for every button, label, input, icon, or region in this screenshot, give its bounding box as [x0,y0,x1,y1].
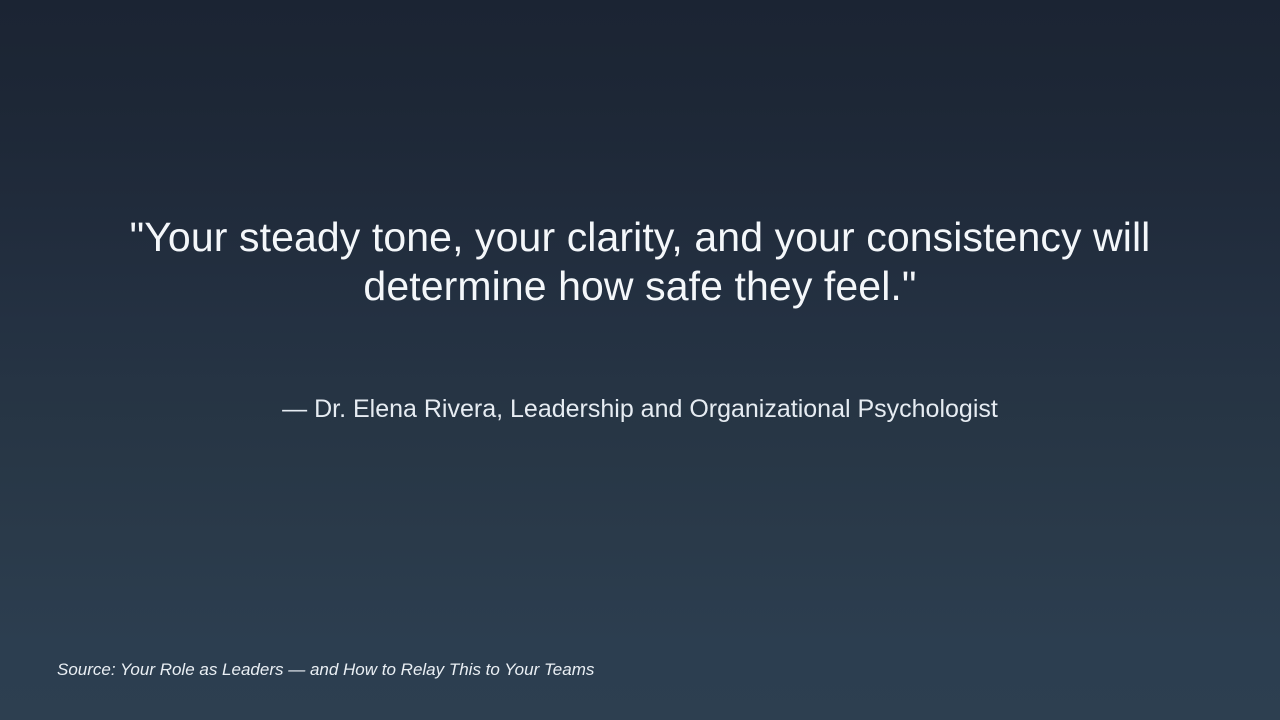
source-citation: Source: Your Role as Leaders — and How t… [57,658,594,682]
quote-slide: "Your steady tone, your clarity, and you… [0,0,1280,720]
quote-text: "Your steady tone, your clarity, and you… [120,213,1160,311]
quote-block: "Your steady tone, your clarity, and you… [0,213,1280,311]
quote-attribution: — Dr. Elena Rivera, Leadership and Organ… [0,393,1280,426]
